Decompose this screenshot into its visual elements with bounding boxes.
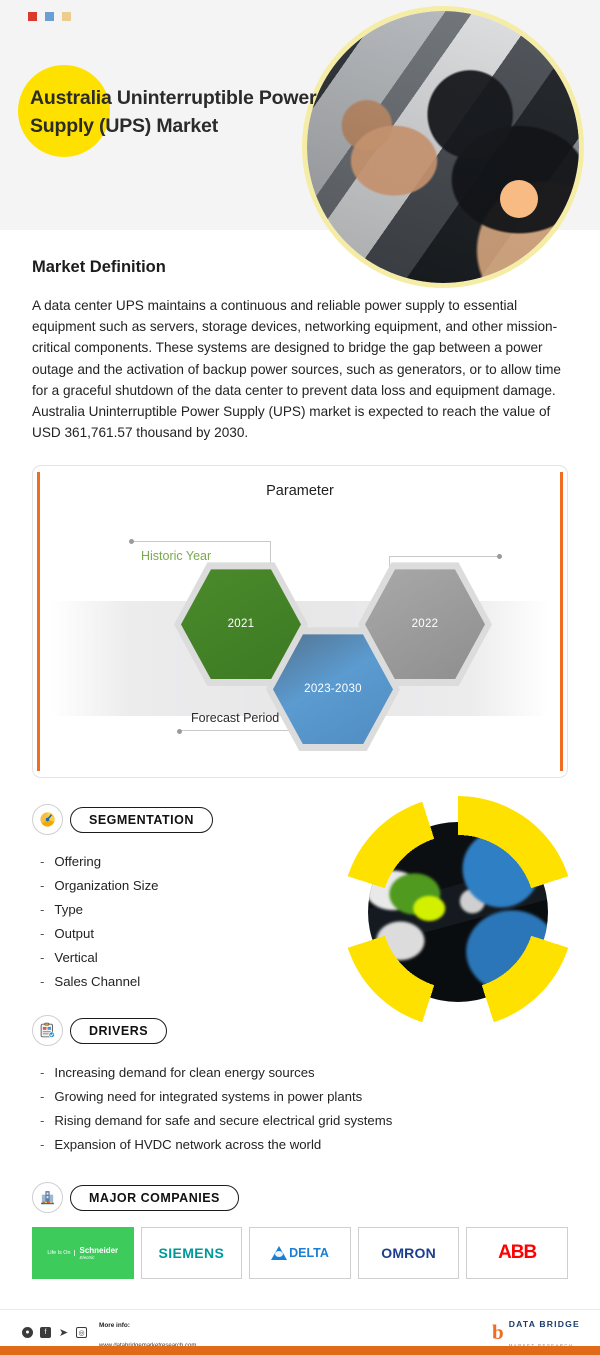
list-item-label: Vertical	[54, 950, 97, 965]
hero-image	[302, 6, 584, 288]
brand-name: DATA BRIDGE	[509, 1319, 580, 1329]
parameter-hexagon-diagram: Historic Year Base Year Forecast Period …	[33, 499, 567, 749]
abb-wordmark: ABB	[498, 1242, 536, 1264]
accent-dots	[28, 12, 71, 21]
facebook-icon[interactable]: f	[40, 1327, 51, 1338]
twitter-icon[interactable]: ➤	[58, 1327, 69, 1338]
pie-chart-icon	[32, 804, 63, 835]
list-item-label: Rising demand for safe and secure electr…	[54, 1113, 392, 1128]
hero-accent-dot	[500, 180, 538, 218]
label-forecast-period: Forecast Period	[191, 711, 279, 725]
instagram-icon[interactable]: ◎	[76, 1327, 87, 1338]
segmentation-badge-label: SEGMENTATION	[70, 807, 213, 833]
connector-knob-base	[497, 554, 502, 559]
bullet-dash: -	[40, 1089, 44, 1104]
list-item-label: Output	[54, 926, 94, 941]
footer-more-info-label: More info:	[99, 1322, 130, 1329]
schneider-brand: Schneider Electric	[75, 1247, 118, 1261]
drivers-badge-row: DRIVERS	[32, 1015, 568, 1046]
header-banner: Australia Uninterruptible Power Supply (…	[0, 0, 600, 230]
clipboard-report-icon	[32, 1015, 63, 1046]
schneider-brand-name: Schneider	[79, 1246, 118, 1255]
logo-omron: OMRON	[358, 1227, 460, 1279]
parameter-title: Parameter	[33, 483, 567, 499]
list-item: -Increasing demand for clean energy sour…	[32, 1060, 568, 1084]
segmentation-graphic	[342, 796, 574, 1028]
bullet-dash: -	[40, 1065, 44, 1080]
hexagon-forecast: 2023-2030	[273, 634, 393, 744]
accent-dot-blue	[45, 12, 54, 21]
drivers-badge-label: DRIVERS	[70, 1018, 167, 1044]
bullet-dash: -	[40, 1113, 44, 1128]
accent-dot-gold	[62, 12, 71, 21]
schneider-tagline: Life Is On	[47, 1250, 75, 1256]
bullet-dash: -	[40, 902, 44, 917]
globe-icon[interactable]: ●	[22, 1327, 33, 1338]
delta-lockup: DELTA	[271, 1246, 329, 1260]
factory-building-icon	[32, 1182, 63, 1213]
logo-siemens: SIEMENS	[141, 1227, 243, 1279]
list-item: -Rising demand for safe and secure elect…	[32, 1108, 568, 1132]
bullet-dash: -	[40, 854, 44, 869]
connector-knob-forecast	[177, 729, 182, 734]
footer-accent-bar	[0, 1346, 600, 1355]
companies-badge-label: MAJOR COMPANIES	[70, 1185, 239, 1211]
major-companies-section: MAJOR COMPANIES Life Is On Schneider Ele…	[32, 1182, 568, 1279]
label-historic-year: Historic Year	[141, 549, 211, 563]
bullet-dash: -	[40, 950, 44, 965]
list-item-label: Expansion of HVDC network across the wor…	[54, 1137, 321, 1152]
list-item-label: Type	[54, 902, 83, 917]
bullet-dash: -	[40, 974, 44, 989]
accent-dot-red	[28, 12, 37, 21]
segmentation-arc-ring	[342, 796, 574, 1028]
siemens-wordmark: SIEMENS	[158, 1245, 224, 1261]
list-item-label: Offering	[54, 854, 101, 869]
list-item: -Expansion of HVDC network across the wo…	[32, 1132, 568, 1156]
page-title: Australia Uninterruptible Power Supply (…	[30, 85, 320, 140]
list-item-label: Sales Channel	[54, 974, 140, 989]
parameter-card: Parameter Historic Year Base Year Foreca…	[32, 465, 568, 778]
list-item-label: Increasing demand for clean energy sourc…	[54, 1065, 314, 1080]
segmentation-section: SEGMENTATION -Offering -Organization Siz…	[32, 804, 568, 993]
bullet-dash: -	[40, 878, 44, 893]
delta-triangle-icon	[271, 1246, 287, 1260]
drivers-section: DRIVERS -Increasing demand for clean ene…	[32, 1015, 568, 1156]
title-block: Australia Uninterruptible Power Supply (…	[30, 85, 320, 140]
drivers-list: -Increasing demand for clean energy sour…	[32, 1060, 568, 1156]
omron-wordmark: OMRON	[381, 1245, 436, 1261]
logo-delta: DELTA	[249, 1227, 351, 1279]
delta-wordmark: DELTA	[289, 1246, 329, 1260]
data-bridge-logo-icon: b	[492, 1322, 504, 1343]
bullet-dash: -	[40, 1137, 44, 1152]
logo-schneider-electric: Life Is On Schneider Electric	[32, 1227, 134, 1279]
list-item: -Growing need for integrated systems in …	[32, 1084, 568, 1108]
bullet-dash: -	[40, 926, 44, 941]
logo-abb: ABB	[466, 1227, 568, 1279]
list-item-label: Growing need for integrated systems in p…	[54, 1089, 362, 1104]
schneider-brand-sub: Electric	[79, 1255, 118, 1260]
hero-photo	[307, 11, 579, 283]
definition-body: A data center UPS maintains a continuous…	[32, 295, 568, 443]
company-logo-row: Life Is On Schneider Electric SIEMENS DE…	[32, 1227, 568, 1279]
list-item-label: Organization Size	[54, 878, 158, 893]
companies-badge-row: MAJOR COMPANIES	[32, 1182, 568, 1213]
